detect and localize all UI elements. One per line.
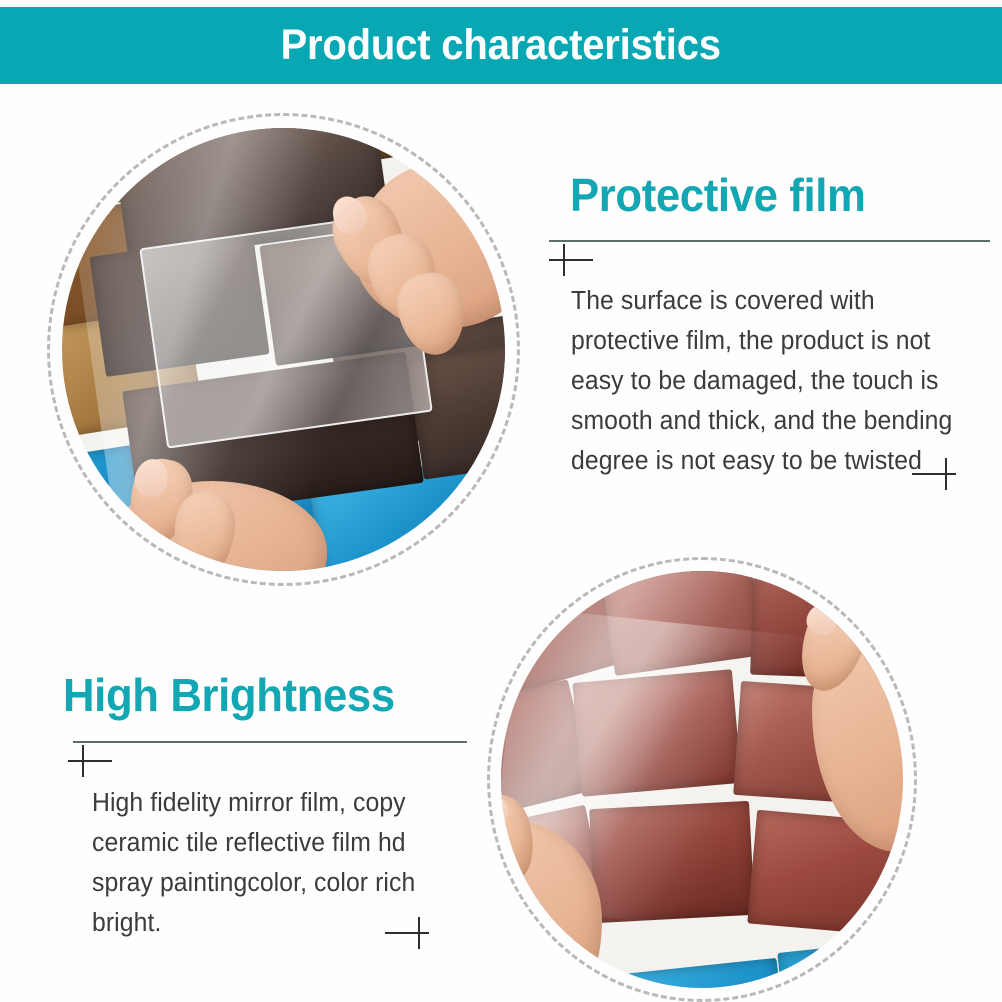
plus-icon-protective-lower (912, 458, 958, 492)
plus-icon-horizontal-bar (385, 932, 429, 934)
plus-icon-horizontal-bar (549, 259, 593, 261)
plus-icon-vertical-bar (563, 244, 565, 276)
plus-icon-vertical-bar (418, 917, 420, 949)
plus-icon-brightness-upper (68, 745, 114, 779)
feature-heading-high-brightness: High Brightness (63, 668, 395, 722)
plus-icon-brightness-lower (385, 917, 431, 951)
divider-high-brightness (73, 741, 467, 743)
photo-protective-film (47, 113, 520, 586)
header-band: Product characteristics (0, 7, 1002, 84)
plus-icon-horizontal-bar (912, 473, 956, 475)
infographic-page: Product characteristics (0, 0, 1002, 1002)
feature-heading-protective-film: Protective film (570, 168, 865, 222)
photo-protective-film-image (62, 128, 505, 571)
feature-body-protective-film: The surface is covered with protective f… (571, 281, 982, 481)
photo-high-brightness (487, 557, 917, 1002)
plus-icon-horizontal-bar (68, 760, 112, 762)
plus-icon-protective-upper (549, 244, 595, 278)
plus-icon-vertical-bar (82, 745, 84, 777)
plus-icon-vertical-bar (945, 458, 947, 490)
divider-protective-film (549, 240, 990, 242)
photo-high-brightness-image (501, 571, 903, 988)
page-title: Product characteristics (281, 21, 721, 70)
